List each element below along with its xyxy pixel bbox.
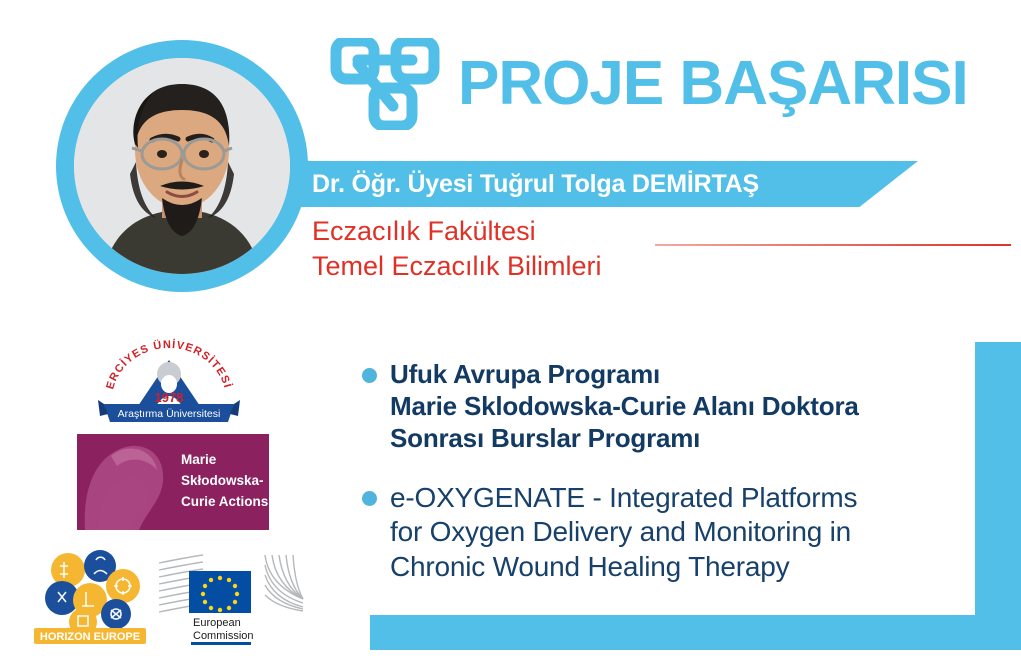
avatar <box>74 58 290 274</box>
poster-canvas: PROJE BAŞARISI Dr. Öğr. Üyesi Tuğrul Tol… <box>0 0 1021 667</box>
divider-rule <box>655 244 1011 246</box>
bullet-1-line-1: Ufuk Avrupa Programı <box>390 358 859 390</box>
achievement-list: Ufuk Avrupa Programı Marie Sklodowska-Cu… <box>362 358 972 611</box>
list-item: Ufuk Avrupa Programı Marie Sklodowska-Cu… <box>362 358 972 455</box>
ec-line-2: Commission <box>193 630 254 642</box>
msca-line-1: Marie <box>181 452 217 467</box>
erciyes-year: 1978 <box>155 390 184 405</box>
bullet-2-line-3: Chronic Wound Healing Therapy <box>390 550 857 585</box>
bullet-programme-text: Ufuk Avrupa Programı Marie Sklodowska-Cu… <box>390 358 859 455</box>
name-banner: Dr. Öğr. Üyesi Tuğrul Tolga DEMİRTAŞ <box>268 161 918 207</box>
bullet-dot-icon <box>362 368 377 383</box>
faculty-block: Eczacılık Fakültesi Temel Eczacılık Bili… <box>312 214 602 283</box>
european-commission-logo: European Commission <box>157 553 305 645</box>
list-item: e-OXYGENATE - Integrated Platforms for O… <box>362 481 972 585</box>
bullet-2-line-1: e-OXYGENATE - Integrated Platforms <box>390 481 857 516</box>
bullet-dot-icon <box>362 491 377 506</box>
bullet-1-line-2: Marie Sklodowska-Curie Alanı Doktora <box>390 390 859 422</box>
bullet-2-line-2: for Oxygen Delivery and Monitoring in <box>390 515 857 550</box>
bullet-project-text: e-OXYGENATE - Integrated Platforms for O… <box>390 481 857 585</box>
erciyes-ribbon-text: Araştırma Üniversitesi <box>118 408 221 420</box>
msca-line-3: Curie Actions <box>181 494 268 509</box>
horizon-europe-logo: HORIZON EUROPE <box>28 544 152 646</box>
bullet-1-line-3: Sonrası Burslar Programı <box>390 422 859 454</box>
erciyes-universitesi-logo: ERCİYES ÜNİVERSİTESİ Araştırma Üniversit… <box>96 330 242 430</box>
faculty-line-1: Eczacılık Fakültesi <box>312 214 602 249</box>
msca-line-2: Skłodowska- <box>181 473 264 488</box>
page-title: PROJE BAŞARISI <box>458 53 968 115</box>
marie-sklodowska-curie-actions-logo: Marie Skłodowska- Curie Actions <box>77 434 269 530</box>
person-name: Dr. Öğr. Üyesi Tuğrul Tolga DEMİRTAŞ <box>312 170 759 199</box>
faculty-line-2: Temel Eczacılık Bilimleri <box>312 249 602 284</box>
decorative-frame-right <box>975 342 1021 650</box>
horizon-banner-text: HORIZON EUROPE <box>40 631 140 643</box>
decorative-frame-bottom <box>370 615 1021 650</box>
network-nodes-icon <box>330 38 440 130</box>
header: PROJE BAŞARISI <box>330 38 968 130</box>
avatar-ring <box>56 40 308 292</box>
ec-line-1: European <box>193 617 241 629</box>
